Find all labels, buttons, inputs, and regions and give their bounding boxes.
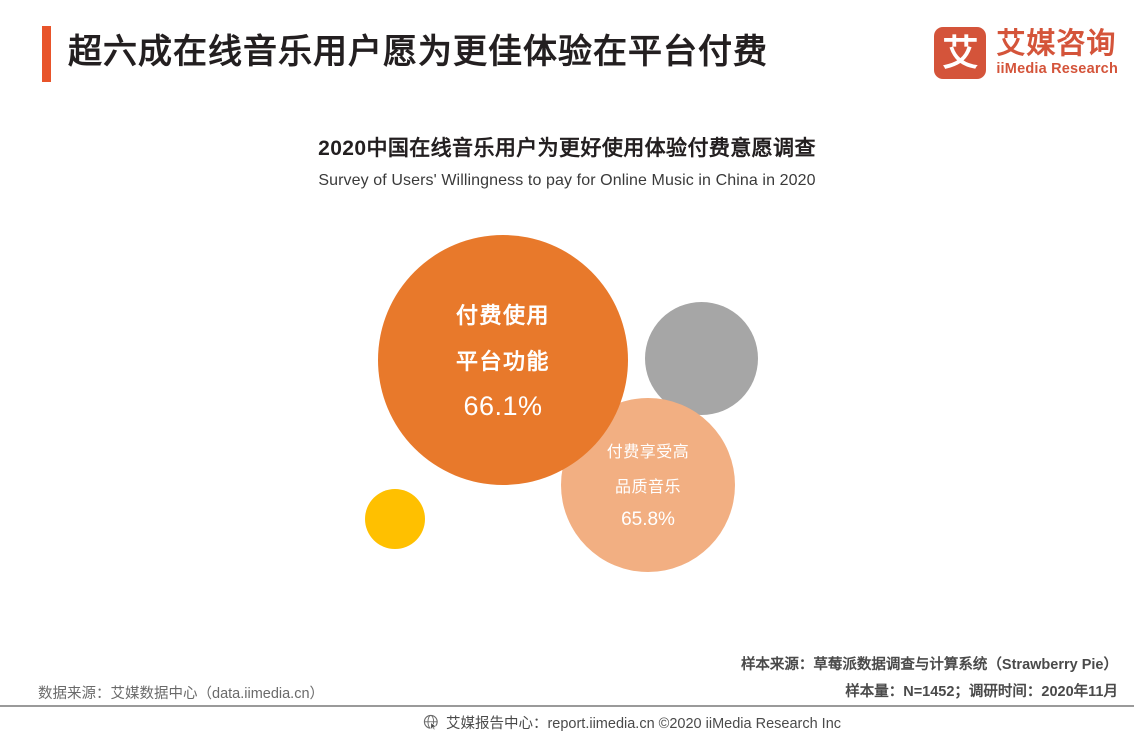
sample-size-note: 样本量：N=1452；调研时间：2020年11月 bbox=[741, 679, 1118, 706]
bubble-chart: 付费享受高 品质音乐 65.8% 付费使用 平台功能 66.1% bbox=[0, 0, 1134, 640]
bubble-label-line1: 付费使用 bbox=[456, 293, 550, 339]
footer-text: 艾媒报告中心：report.iimedia.cn ©2020 iiMedia R… bbox=[446, 712, 841, 733]
data-source-note: 数据来源：艾媒数据中心（data.iimedia.cn） bbox=[38, 682, 324, 703]
page-footer: 艾媒报告中心：report.iimedia.cn ©2020 iiMedia R… bbox=[0, 707, 1134, 737]
globe-cursor-icon bbox=[423, 714, 440, 731]
bubble-value: 66.1% bbox=[463, 385, 542, 427]
footer-content: 艾媒报告中心：report.iimedia.cn ©2020 iiMedia R… bbox=[423, 712, 841, 733]
bubble-label-line1: 付费享受高 bbox=[607, 435, 690, 470]
bubble-value: 65.8% bbox=[621, 505, 675, 535]
sample-info: 样本来源：草莓派数据调查与计算系统（Strawberry Pie） 样本量：N=… bbox=[741, 652, 1118, 706]
bubble-paid-platform-features: 付费使用 平台功能 66.1% bbox=[378, 235, 628, 485]
sample-source-note: 样本来源：草莓派数据调查与计算系统（Strawberry Pie） bbox=[741, 652, 1118, 679]
bubble-label-line2: 品质音乐 bbox=[615, 470, 681, 505]
bubble-decorative-yellow bbox=[365, 489, 425, 549]
bubble-label-line2: 平台功能 bbox=[456, 339, 550, 385]
bubble-decorative-grey bbox=[645, 302, 758, 415]
